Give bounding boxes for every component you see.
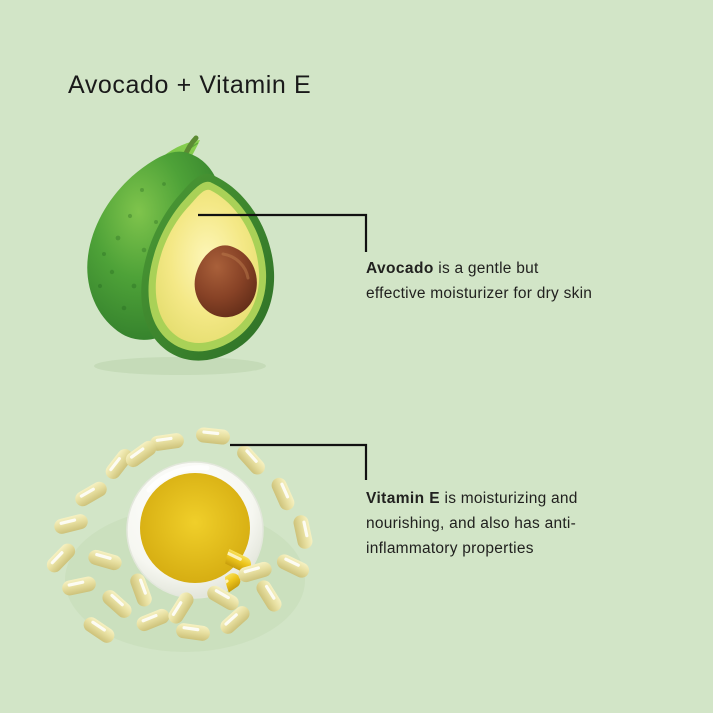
callout-vitamin-e-rest1: is moisturizing and <box>440 490 578 507</box>
callout-avocado-lead: Avocado <box>366 260 434 277</box>
callout-avocado-line2: effective moisturizer for dry skin <box>366 281 666 306</box>
callout-avocado-rest1: is a gentle but <box>434 260 539 277</box>
callout-vitamin-e-lead: Vitamin E <box>366 490 440 507</box>
callout-vitamin-e-line2: nourishing, and also has anti- <box>366 511 656 536</box>
callout-vitamin-e-line1: Vitamin E is moisturizing and <box>366 486 656 511</box>
callout-vitamin-e-line3: inflammatory properties <box>366 536 656 561</box>
page-title: Avocado + Vitamin E <box>68 71 311 100</box>
vitamin-e-illustration <box>45 420 335 665</box>
callout-avocado: Avocado is a gentle but effective moistu… <box>366 256 666 306</box>
avocado-shadow <box>94 357 266 375</box>
avocado-svg <box>60 118 310 378</box>
infographic-canvas: Avocado + Vitamin E <box>0 0 713 713</box>
callout-avocado-line1: Avocado is a gentle but <box>366 256 666 281</box>
capsules-svg <box>45 420 335 665</box>
callout-vitamin-e: Vitamin E is moisturizing and nourishing… <box>366 486 656 561</box>
avocado-illustration <box>60 118 310 378</box>
